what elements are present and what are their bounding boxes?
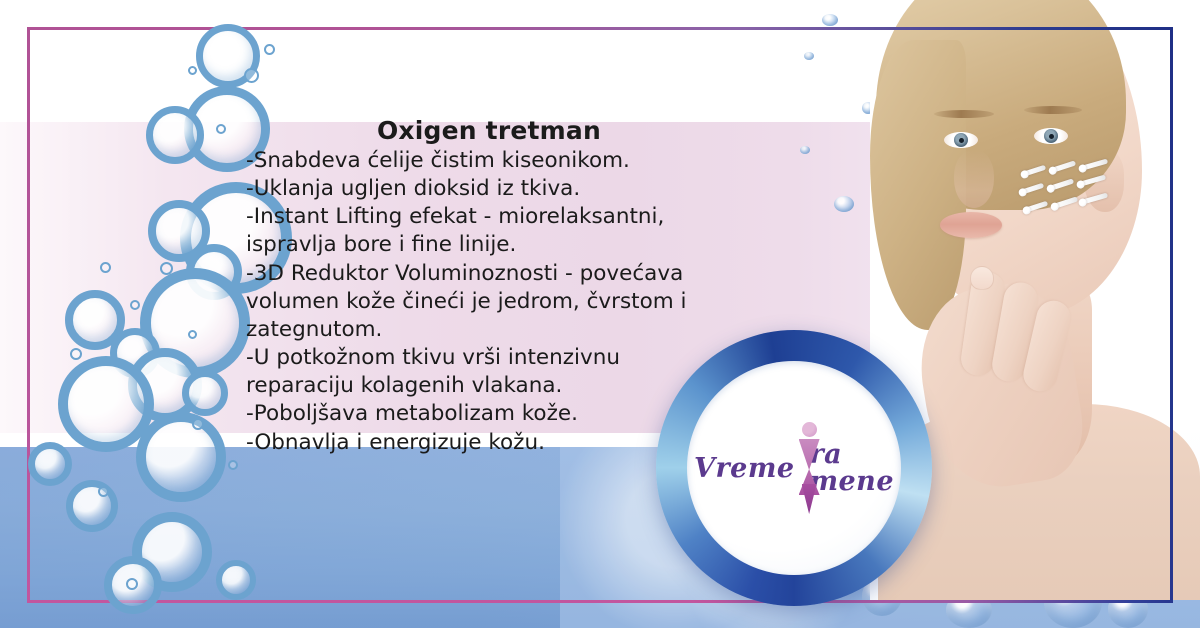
benefit-item: -Poboljšava metabolizam kože.: [246, 400, 716, 428]
logo-badge-inner: Vreme ra mene: [687, 361, 901, 575]
frame-border-left: [27, 27, 30, 603]
benefit-item: -Obnavlja i energizuje kožu.: [246, 429, 716, 457]
promo-banner: Vreme ra mene Oxigen tretman -Snabdeva ć…: [0, 0, 1200, 628]
water-droplet: [804, 52, 814, 60]
bubble-ring-small: [100, 262, 111, 273]
lifting-arrows: [1022, 164, 1114, 226]
bubble-ring: [182, 370, 228, 416]
benefit-item: -Uklanja ugljen dioksid iz tkiva.: [246, 175, 716, 203]
benefit-list: -Snabdeva ćelije čistim kiseonikom. -Ukl…: [246, 147, 716, 457]
benefit-item: -U potkožnom tkivu vrši intenzivnu repar…: [246, 344, 716, 400]
logo-text-before: Vreme: [694, 455, 795, 482]
bubble-ring-small: [160, 262, 173, 275]
bubble-ring: [146, 106, 204, 164]
bubble-ring-small: [130, 300, 140, 310]
bubble-ring-small: [244, 68, 259, 83]
model-eye-right: [1034, 128, 1068, 144]
model-pupil-left: [959, 138, 964, 143]
bubble-ring: [216, 560, 256, 600]
lifting-arrow: [1054, 196, 1078, 208]
lifting-arrow: [1022, 183, 1044, 195]
water-droplet: [800, 146, 810, 154]
lifting-arrow: [1050, 178, 1074, 190]
bubble-ring-small: [264, 44, 275, 55]
bubble-ring-small: [228, 460, 238, 470]
bubble-ring-small: [70, 348, 82, 360]
lifting-arrow: [1024, 165, 1046, 177]
model-eyebrow-right: [1024, 106, 1082, 114]
logo-lockup: Vreme ra mene: [694, 413, 894, 523]
bubble-ring: [28, 442, 72, 486]
page-title: Oxigen tretman: [246, 116, 716, 145]
bubble-ring: [66, 480, 118, 532]
frame-border-bottom: [27, 600, 1173, 603]
model-iris-right: [1044, 129, 1058, 143]
model-iris-left: [954, 133, 968, 147]
bubble-ring-small: [216, 124, 226, 134]
bubble-ring-small: [192, 418, 204, 430]
model-lips: [940, 212, 1002, 238]
benefit-item: -Instant Lifting efekat - miorelaksantni…: [246, 203, 716, 259]
water-droplet: [822, 14, 838, 26]
bubble-ring-small: [126, 578, 138, 590]
frame-border-right: [1170, 27, 1173, 603]
model-pupil-right: [1049, 134, 1054, 139]
water-droplet: [834, 196, 854, 212]
bubble-ring: [136, 412, 226, 502]
model-fingernail: [970, 266, 994, 290]
benefit-item: -Snabdeva ćelije čistim kiseonikom.: [246, 147, 716, 175]
benefit-item: -3D Reduktor Voluminoznosti - povećava v…: [246, 260, 716, 344]
model-eyebrow-left: [934, 110, 994, 118]
woman-hourglass-icon: [796, 422, 809, 514]
logo-text-after: ra mene: [809, 441, 894, 495]
bubble-ring-small: [188, 330, 197, 339]
logo-figure-head: [802, 422, 817, 437]
lifting-arrow: [1082, 193, 1108, 205]
model-eye-left: [944, 132, 978, 148]
logo-figure-base: [802, 484, 817, 514]
frame-border-top: [27, 27, 1173, 30]
model-nose: [954, 150, 994, 208]
lifting-arrow: [1080, 175, 1106, 187]
treatment-copy: Oxigen tretman -Snabdeva ćelije čistim k…: [246, 116, 716, 457]
bubble-ring-small: [98, 486, 109, 497]
lifting-arrow: [1026, 201, 1048, 213]
bubble-ring-small: [188, 66, 197, 75]
